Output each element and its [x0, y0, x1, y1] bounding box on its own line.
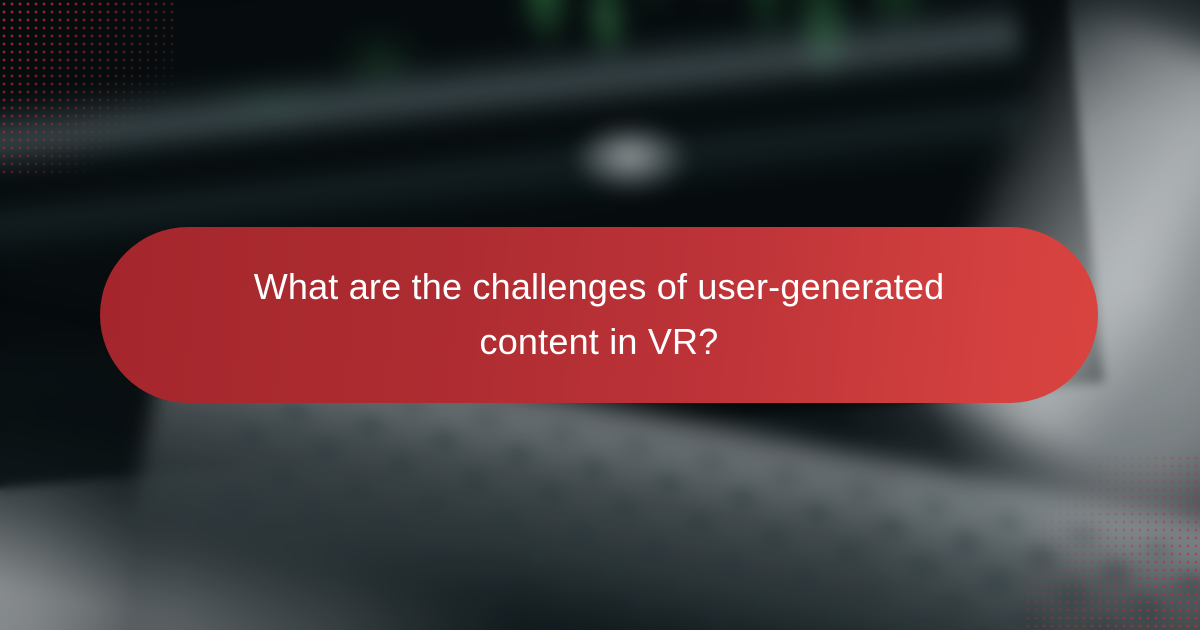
social-share-card: What are the challenges of user-generate… — [0, 0, 1200, 630]
page-title: What are the challenges of user-generate… — [219, 260, 979, 369]
headline-pill: What are the challenges of user-generate… — [100, 227, 1098, 403]
